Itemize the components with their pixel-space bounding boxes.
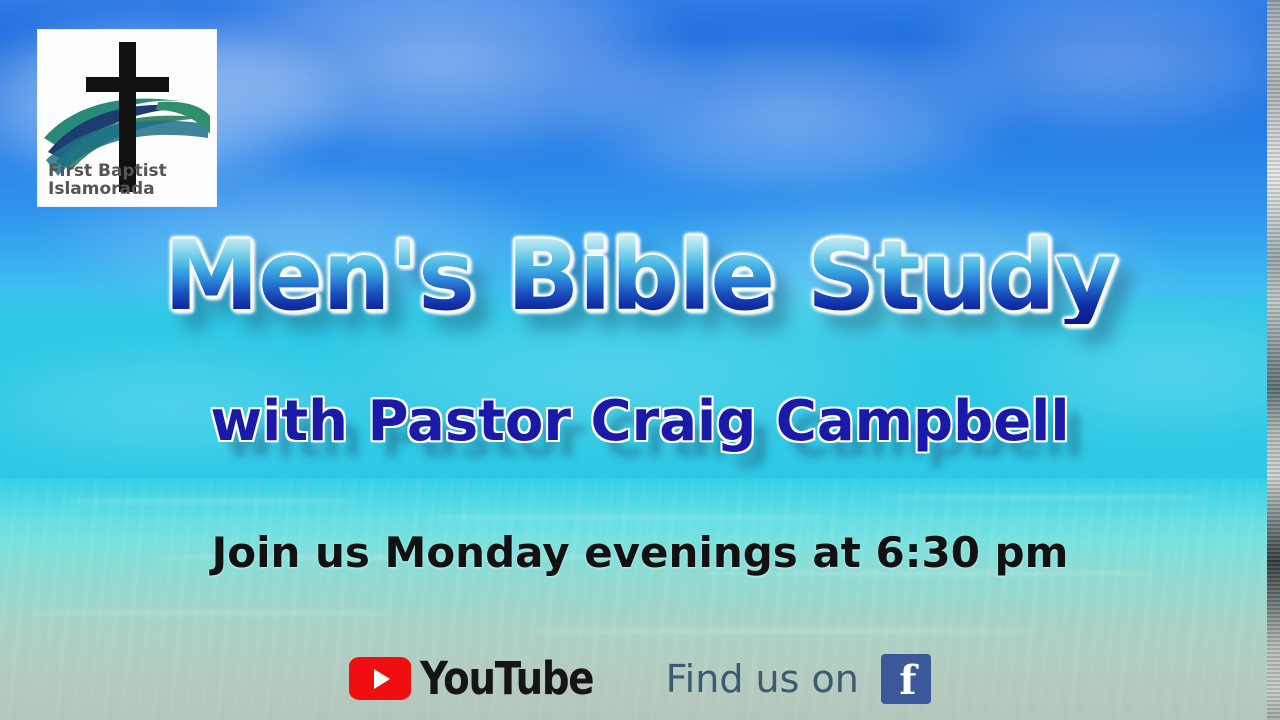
church-logo: First Baptist Islamorada bbox=[38, 30, 216, 206]
play-triangle-icon bbox=[374, 669, 390, 689]
youtube-link[interactable]: YouTube bbox=[349, 652, 621, 705]
church-logo-artwork: First Baptist Islamorada bbox=[38, 30, 216, 206]
tagline-row: Join us Monday evenings at 6:30 pm bbox=[0, 532, 1280, 574]
logo-line2: Islamorada bbox=[48, 179, 155, 199]
facebook-f-icon[interactable]: f bbox=[881, 654, 931, 704]
facebook-letter: f bbox=[881, 657, 931, 701]
water-ripple bbox=[420, 516, 840, 519]
video-edge-artifact bbox=[1267, 0, 1280, 720]
water-ripple bbox=[520, 630, 1040, 633]
subtitle-row: with Pastor Craig Campbell bbox=[0, 394, 1280, 450]
page-title: Men's Bible Study bbox=[164, 228, 1117, 324]
logo-line1: First Baptist bbox=[48, 161, 167, 181]
livestream-slide: First Baptist Islamorada Men's Bible Stu… bbox=[0, 0, 1280, 720]
find-us-label: Find us on bbox=[666, 657, 859, 701]
title-row: Men's Bible Study bbox=[0, 228, 1280, 324]
water-ripple bbox=[20, 612, 400, 615]
page-subtitle: with Pastor Craig Campbell bbox=[210, 394, 1069, 450]
schedule-tagline: Join us Monday evenings at 6:30 pm bbox=[212, 532, 1069, 574]
social-links-row: YouTube Find us on f bbox=[0, 652, 1280, 705]
youtube-label: YouTube bbox=[420, 652, 593, 705]
youtube-play-icon[interactable] bbox=[349, 657, 411, 700]
water-ripple bbox=[880, 496, 1210, 499]
water-ripple bbox=[60, 500, 360, 503]
